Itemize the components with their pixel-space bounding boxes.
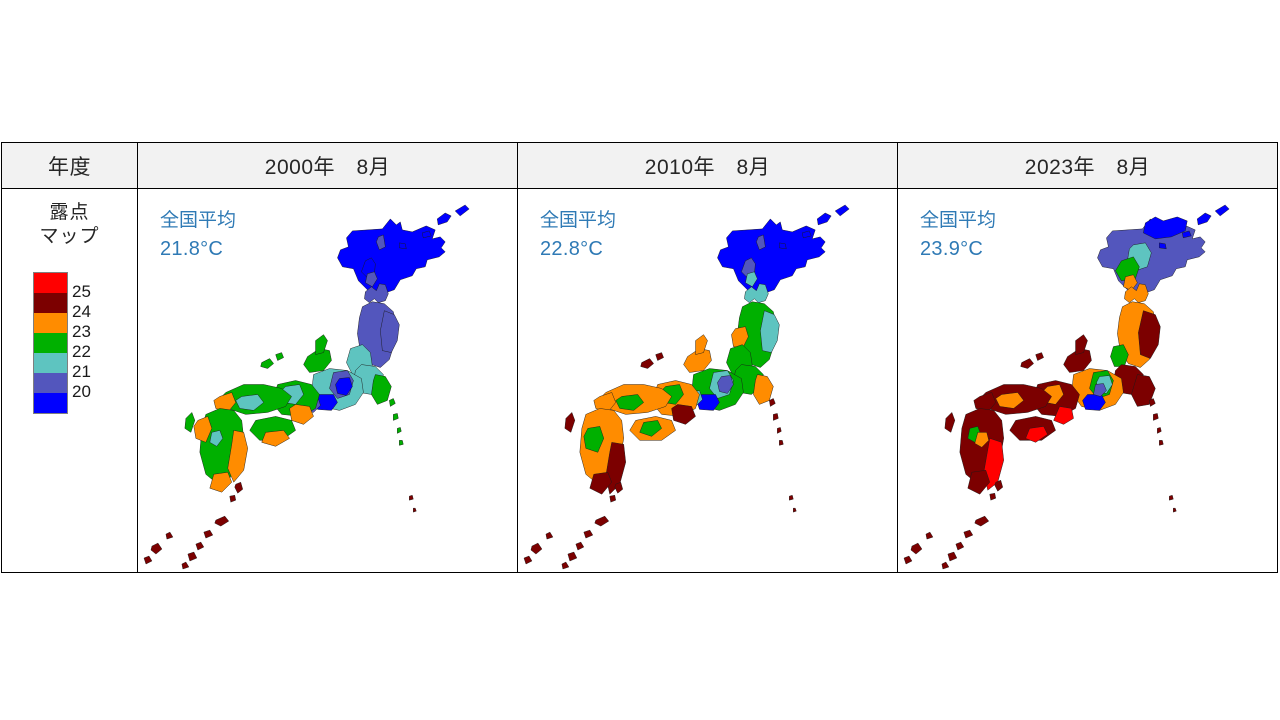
- legend-tick-25: 25: [72, 283, 91, 300]
- region-nansei-islands: [562, 516, 609, 569]
- map-regions-2000: [144, 205, 469, 569]
- map-regions-2010: [524, 205, 849, 569]
- legend-cell: 露点 マップ 25 24: [2, 189, 138, 572]
- map-panel-2000: 全国平均 21.8°C: [138, 189, 518, 572]
- region-oki-islands: [1021, 353, 1044, 369]
- region-tohoku-e: [760, 311, 779, 353]
- header-panel-2-text: 2023年 8月: [1025, 151, 1150, 181]
- header-panel-0-text: 2000年 8月: [265, 151, 390, 181]
- region-izu-islands: [389, 398, 403, 445]
- legend-colorbar-group: 25 24 23 22 21 20: [33, 272, 106, 414]
- region-nansei-islands: [942, 516, 989, 569]
- legend-tick-labels: 25 24 23 22 21 20: [72, 272, 106, 414]
- region-oki-islands: [261, 353, 284, 369]
- legend-tick-23: 23: [72, 323, 91, 340]
- region-oki-islands: [641, 353, 664, 369]
- region-ogasawara: [789, 495, 796, 512]
- header-cell-panel-1: 2010年 8月: [518, 143, 898, 188]
- header-cell-year-label: 年度: [2, 143, 138, 188]
- region-tsushima: [565, 412, 575, 432]
- header-cell-panel-0: 2000年 8月: [138, 143, 518, 188]
- map-panel-2010: 全国平均 22.8°C: [518, 189, 898, 572]
- region-tanegashima: [230, 482, 243, 502]
- legend-title: 露点 マップ: [39, 201, 99, 249]
- legend-tick-22: 22: [72, 343, 91, 360]
- region-tohoku-e: [380, 311, 399, 353]
- legend-title-line-1: 露点: [39, 201, 99, 225]
- japan-choropleth-2010: [518, 189, 897, 572]
- legend-tick-24: 24: [72, 303, 91, 320]
- header-year-text: 年度: [48, 151, 91, 181]
- legend-tick-21: 21: [72, 363, 91, 380]
- legend-band-23-24: [34, 313, 67, 333]
- header-cell-panel-2: 2023年 8月: [898, 143, 1277, 188]
- japan-choropleth-2023: [898, 189, 1277, 572]
- header-panel-1-text: 2010年 8月: [645, 151, 770, 181]
- region-ogasawara: [409, 495, 416, 512]
- region-izu-islands: [769, 398, 783, 445]
- legend-colorbar: [33, 272, 68, 414]
- map-panel-2023: 全国平均 23.9°C: [898, 189, 1277, 572]
- legend-band-22-23: [34, 333, 67, 353]
- legend-band-20-21: [34, 373, 67, 393]
- dew-point-map-figure: 年度 2000年 8月 2010年 8月 2023年 8月 露点 マップ: [0, 0, 1280, 720]
- legend-band-lt20: [34, 393, 67, 413]
- region-izu-islands: [1149, 398, 1163, 445]
- region-kanto-coast: [371, 375, 391, 405]
- region-kii-dark: [672, 404, 696, 424]
- legend-band-21-22: [34, 353, 67, 373]
- region-ogasawara: [1169, 495, 1176, 512]
- region-nansei-islands: [182, 516, 229, 569]
- region-okinawa: [904, 532, 933, 564]
- legend-band-gt25: [34, 273, 67, 293]
- map-regions-2023: [904, 205, 1229, 569]
- comparison-table: 年度 2000年 8月 2010年 8月 2023年 8月 露点 マップ: [1, 142, 1278, 573]
- region-okinawa: [144, 532, 173, 564]
- region-hokkaido: [337, 219, 445, 295]
- legend-title-line-2: マップ: [39, 225, 99, 249]
- region-tsushima: [945, 412, 955, 432]
- region-hokkaido: [717, 219, 825, 295]
- region-kii-orange: [290, 404, 314, 424]
- legend-band-24-25: [34, 293, 67, 313]
- region-tsushima: [185, 412, 195, 432]
- region-tohoku-e-dark: [1138, 311, 1160, 359]
- table-body-row: 露点 マップ 25 24: [2, 189, 1277, 572]
- japan-choropleth-2000: [138, 189, 517, 572]
- region-shikoku-s-orange: [262, 430, 290, 446]
- legend-tick-20: 20: [72, 383, 91, 400]
- table-header-row: 年度 2000年 8月 2010年 8月 2023年 8月: [2, 143, 1277, 189]
- region-okinawa: [524, 532, 553, 564]
